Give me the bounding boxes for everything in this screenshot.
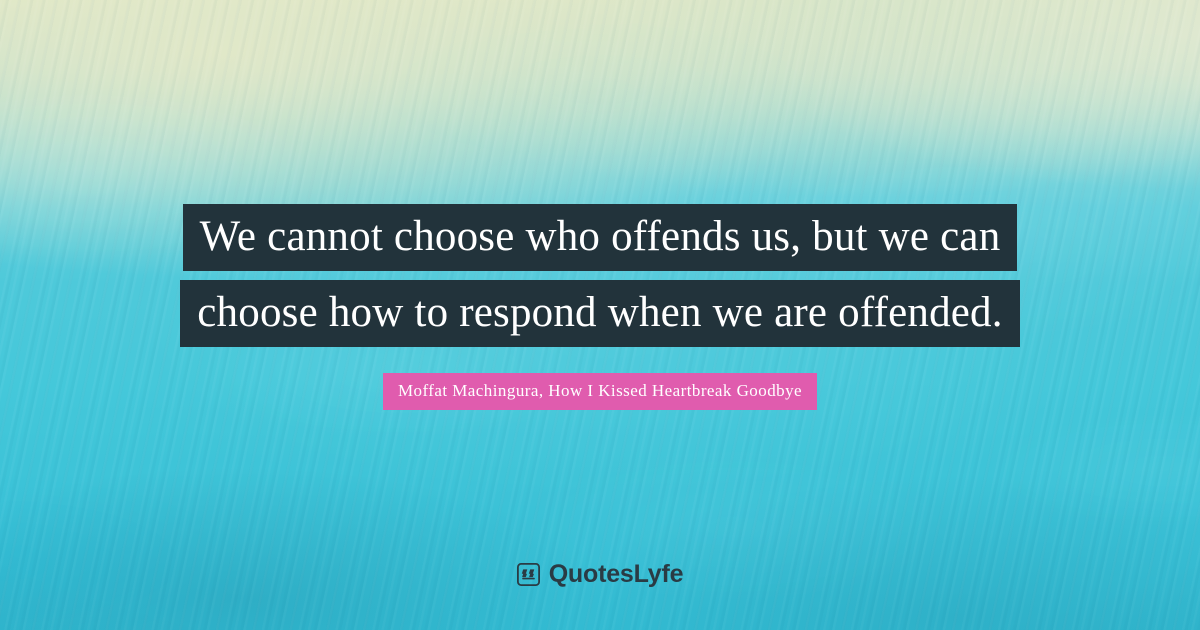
brand-footer: QuotesLyfe [0,560,1200,589]
quote-poster: We cannot choose who offends us, but we … [0,0,1200,630]
quote-text: We cannot choose who offends us, but we … [180,204,1019,347]
quote-attribution: Moffat Machingura, How I Kissed Heartbre… [383,373,817,410]
quote-line: We cannot choose who offends us, but we … [183,204,1018,271]
quote-mark-icon [517,563,540,586]
poster-content: We cannot choose who offends us, but we … [0,0,1200,630]
quote-line: choose how to respond when we are offend… [180,280,1019,347]
brand-name: QuotesLyfe [549,560,684,589]
